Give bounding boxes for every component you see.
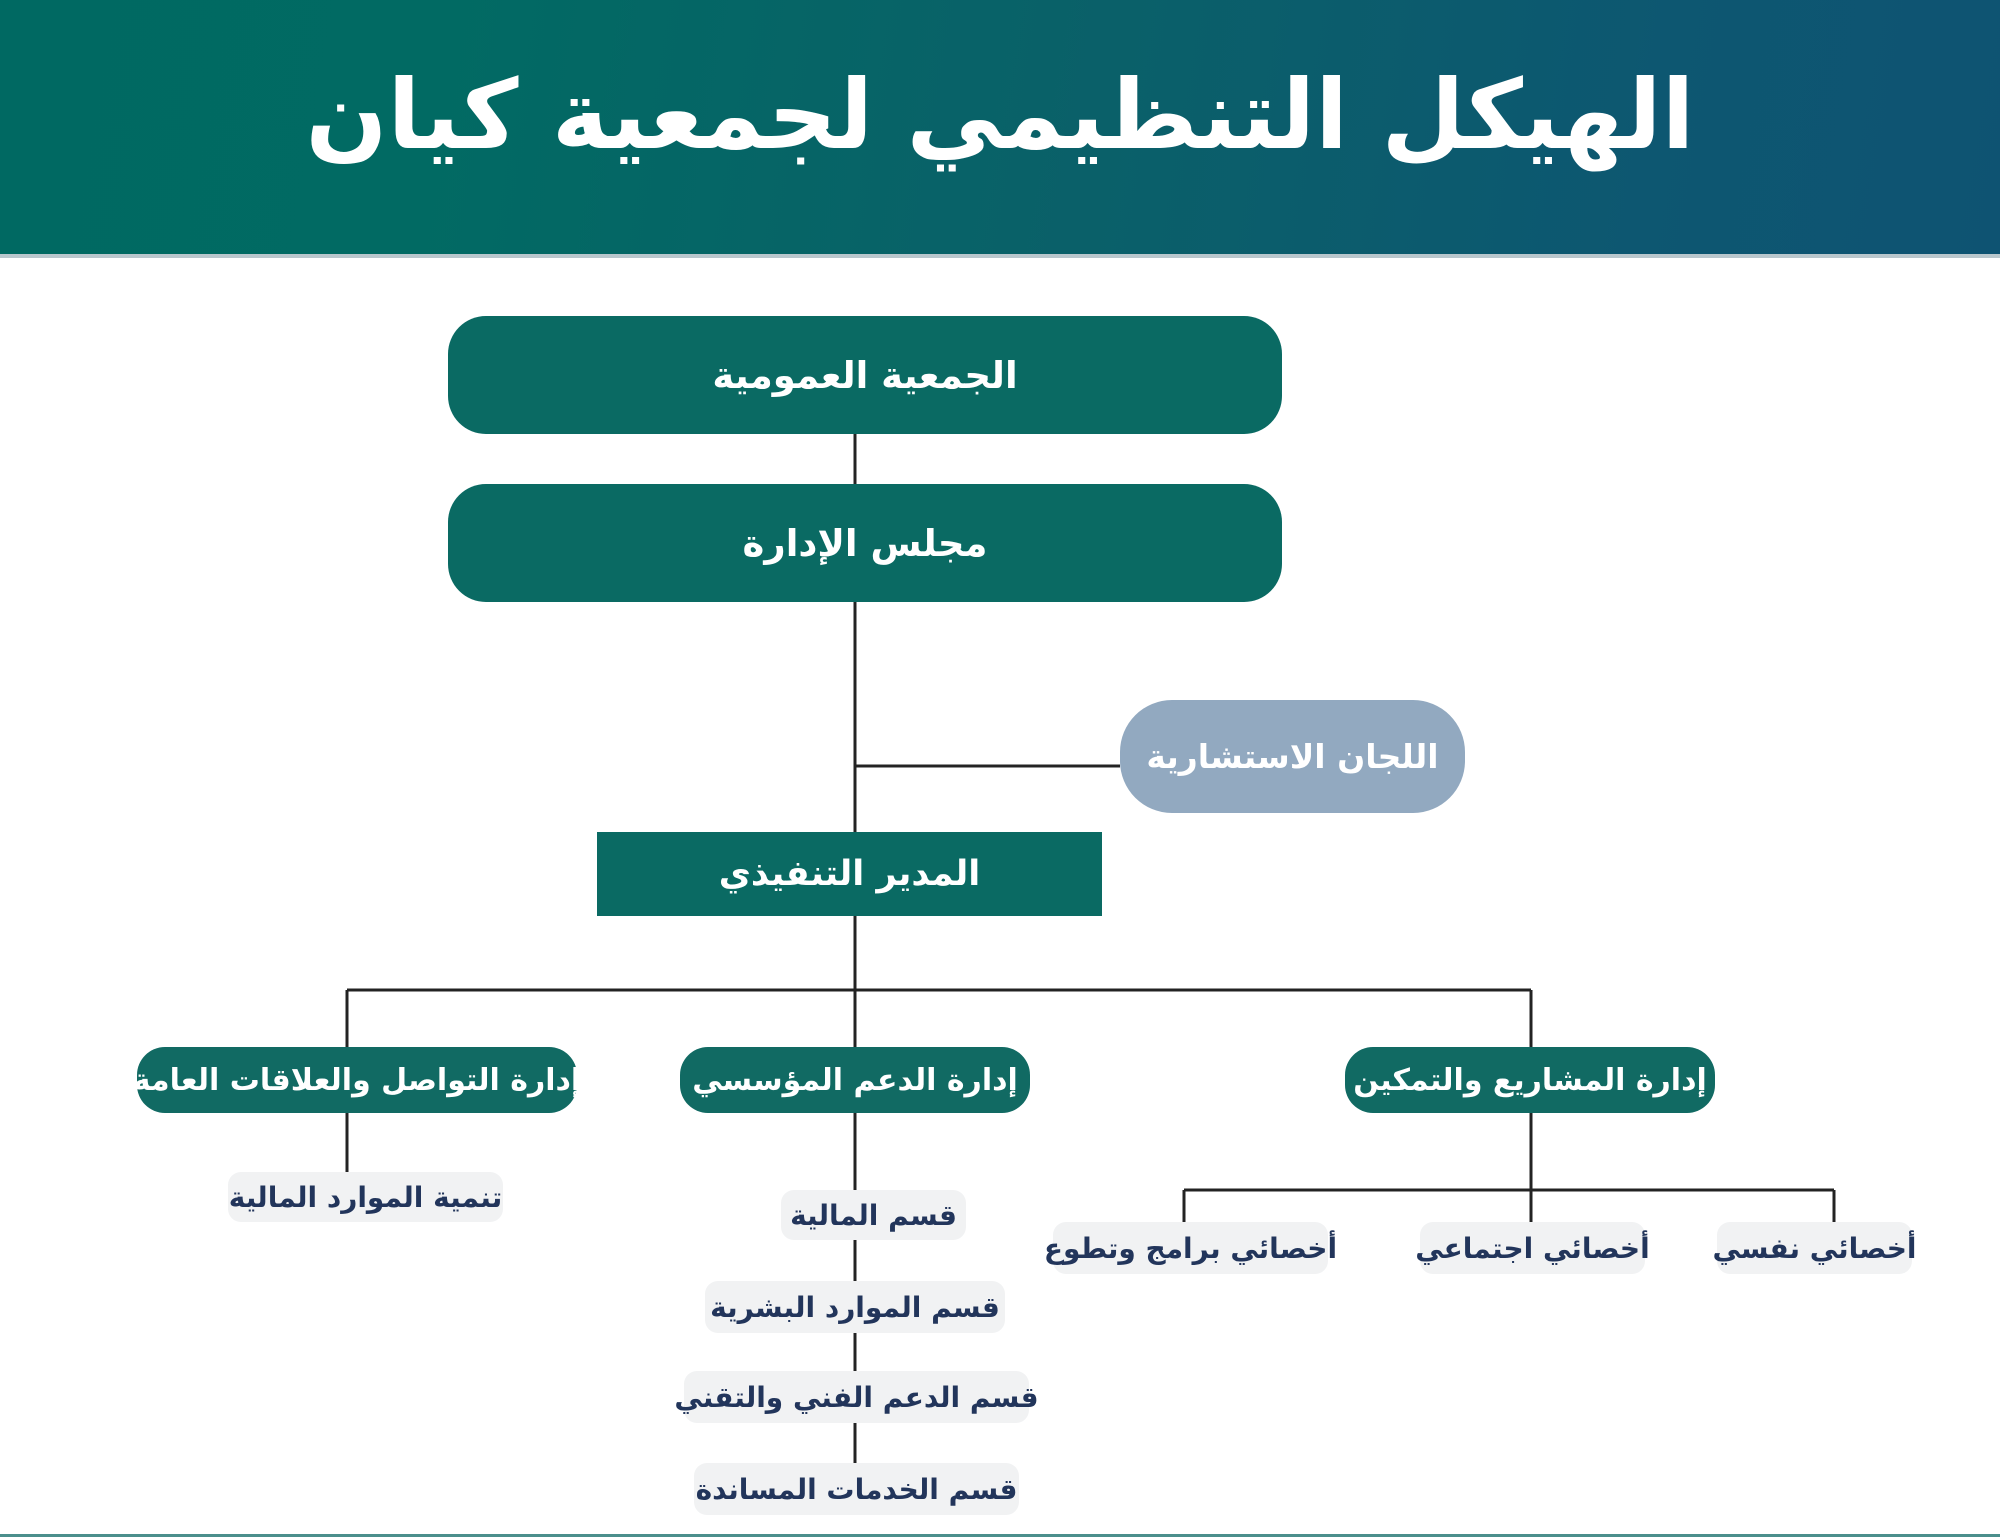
footer-rule — [0, 1534, 2000, 1537]
leaf-human-resources-section[interactable]: قسم الموارد البشرية — [705, 1281, 1005, 1333]
leaf-finance-section-label: قسم المالية — [790, 1199, 957, 1232]
leaf-psychological-specialist[interactable]: أخصائي نفسي — [1717, 1222, 1912, 1274]
leaf-psychological-specialist-label: أخصائي نفسي — [1713, 1232, 1917, 1265]
leaf-human-resources-section-label: قسم الموارد البشرية — [710, 1291, 1000, 1324]
header-banner: الهيكل التنظيمي لجمعية كيان — [0, 0, 2000, 256]
node-dept-communications[interactable]: إدارة التواصل والعلاقات العامة — [137, 1047, 577, 1113]
org-chart-page: الهيكل التنظيمي لجمعية كيان الجمعية العم… — [0, 0, 2000, 1539]
node-dept-projects-empowerment-label: إدارة المشاريع والتمكين — [1353, 1063, 1707, 1098]
leaf-finance-section[interactable]: قسم المالية — [781, 1190, 966, 1240]
leaf-social-specialist-label: أخصائي اجتماعي — [1415, 1232, 1649, 1265]
node-board-of-directors-label: مجلس الإدارة — [743, 522, 988, 565]
node-advisory-committees-label: اللجان الاستشارية — [1146, 737, 1438, 776]
node-dept-institutional-support[interactable]: إدارة الدعم المؤسسي — [680, 1047, 1030, 1113]
node-general-assembly-label: الجمعية العمومية — [712, 354, 1017, 397]
leaf-auxiliary-services-section-label: قسم الخدمات المساندة — [696, 1473, 1018, 1506]
node-executive-director-label: المدير التنفيذي — [719, 854, 980, 894]
leaf-technical-support-section-label: قسم الدعم الفني والتقني — [674, 1381, 1038, 1414]
leaf-technical-support-section[interactable]: قسم الدعم الفني والتقني — [684, 1371, 1029, 1423]
leaf-programs-volunteering-specialist[interactable]: أخصائي برامج وتطوع — [1053, 1222, 1328, 1274]
node-dept-projects-empowerment[interactable]: إدارة المشاريع والتمكين — [1345, 1047, 1715, 1113]
header-underline — [0, 254, 2000, 258]
leaf-social-specialist[interactable]: أخصائي اجتماعي — [1420, 1222, 1645, 1274]
node-board-of-directors[interactable]: مجلس الإدارة — [448, 484, 1282, 602]
node-advisory-committees[interactable]: اللجان الاستشارية — [1120, 700, 1465, 813]
leaf-financial-resource-development[interactable]: تنمية الموارد المالية — [228, 1172, 503, 1222]
node-general-assembly[interactable]: الجمعية العمومية — [448, 316, 1282, 434]
node-dept-communications-label: إدارة التواصل والعلاقات العامة — [133, 1063, 581, 1098]
node-executive-director[interactable]: المدير التنفيذي — [597, 832, 1102, 916]
page-title: الهيكل التنظيمي لجمعية كيان — [0, 60, 2000, 170]
leaf-financial-resource-development-label: تنمية الموارد المالية — [229, 1181, 502, 1214]
leaf-programs-volunteering-specialist-label: أخصائي برامج وتطوع — [1044, 1232, 1337, 1265]
leaf-auxiliary-services-section[interactable]: قسم الخدمات المساندة — [694, 1463, 1019, 1515]
node-dept-institutional-support-label: إدارة الدعم المؤسسي — [692, 1063, 1018, 1098]
